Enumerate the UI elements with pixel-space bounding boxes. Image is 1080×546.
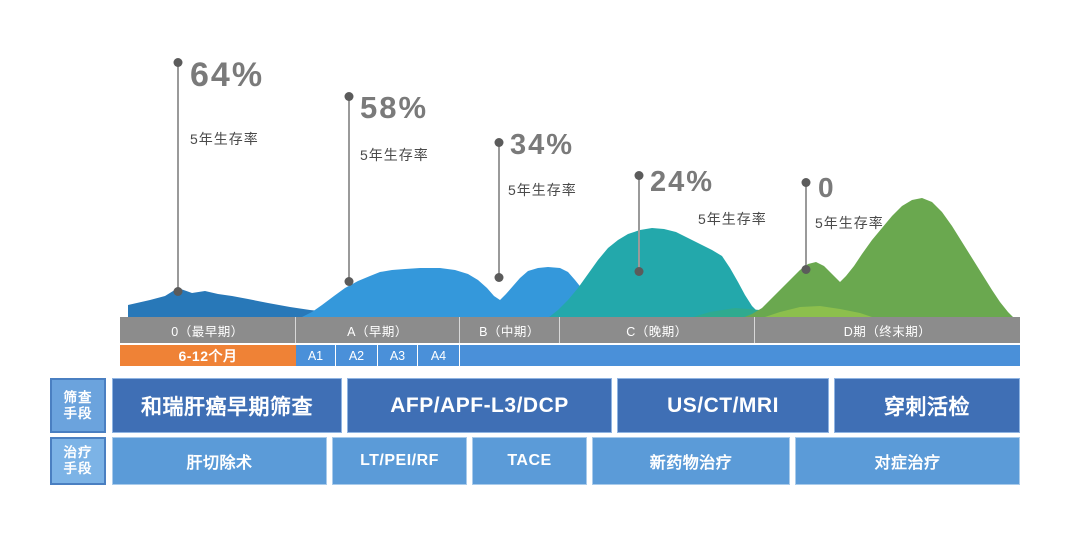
screening-cell-afp[interactable]: AFP/APF-L3/DCP	[347, 378, 612, 433]
stage-cell-d-label: D期（终末期）	[844, 321, 932, 340]
pin-line-58	[348, 96, 350, 282]
treatment-cell-resection[interactable]: 肝切除术	[112, 437, 327, 485]
survival-caption-0: 5年生存率	[815, 216, 884, 230]
stage-cell-c-label: C（晚期）	[626, 321, 688, 340]
substage-a4-label: A4	[431, 349, 446, 363]
survival-caption-64: 5年生存率	[190, 132, 259, 146]
treatment-cell-palliative-label: 对症治疗	[874, 449, 940, 473]
screening-cell-early-screening[interactable]: 和瑞肝癌早期筛查	[112, 378, 342, 433]
treatment-cell-new-drug[interactable]: 新药物治疗	[592, 437, 790, 485]
pin-dot-bottom-58	[345, 277, 354, 286]
screening-cell-imaging[interactable]: US/CT/MRI	[617, 378, 829, 433]
pin-dot-bottom-34	[495, 273, 504, 282]
pin-dot-top-64	[174, 58, 183, 67]
substage-a4[interactable]: A4	[418, 345, 460, 366]
screening-row-label-line1: 筛查	[64, 390, 93, 406]
screening-cell-afp-label: AFP/APF-L3/DCP	[390, 394, 569, 418]
screening-cells: 和瑞肝癌早期筛查 AFP/APF-L3/DCP US/CT/MRI 穿刺活检	[112, 378, 1020, 433]
stage-cell-a-label: A（早期）	[347, 321, 408, 340]
treatment-cells: 肝切除术 LT/PEI/RF TACE 新药物治疗 对症治疗	[112, 437, 1020, 485]
stage-cell-0-label: 0（最早期）	[171, 321, 243, 340]
survival-caption-24: 5年生存率	[698, 212, 767, 226]
pin-dot-bottom-24	[635, 267, 644, 276]
treatment-cell-new-drug-label: 新药物治疗	[650, 449, 733, 473]
pin-line-64	[177, 62, 179, 292]
treatment-cell-lt-pei-rf[interactable]: LT/PEI/RF	[332, 437, 467, 485]
treatment-row-label-line1: 治疗	[64, 445, 93, 461]
duration-badge-label: 6-12个月	[178, 346, 237, 366]
screening-cell-biopsy-label: 穿刺活检	[884, 391, 970, 421]
duration-badge: 6-12个月	[120, 345, 296, 366]
substage-row: 6-12个月 A1 A2 A3 A4	[120, 345, 1020, 366]
substage-a1[interactable]: A1	[296, 345, 336, 366]
area-stage-c	[548, 228, 768, 318]
pin-dot-top-58	[345, 92, 354, 101]
stage-cell-c[interactable]: C（晚期）	[560, 317, 755, 343]
treatment-cell-tace-label: TACE	[507, 452, 551, 470]
substage-a2-label: A2	[349, 349, 364, 363]
treatment-row-label: 治疗 手段	[50, 437, 106, 485]
pin-dot-bottom-0	[802, 265, 811, 274]
pin-dot-top-34	[495, 138, 504, 147]
pin-dot-top-24	[635, 171, 644, 180]
pct-label-34: 34%	[510, 131, 574, 160]
infographic-root: 64% 5年生存率 58% 5年生存率 34% 5年生存率 24% 5年生存率 …	[0, 0, 1080, 546]
treatment-cell-tace[interactable]: TACE	[472, 437, 587, 485]
screening-row-label: 筛查 手段	[50, 378, 106, 433]
substage-a2[interactable]: A2	[336, 345, 378, 366]
pct-label-64: 64%	[190, 58, 264, 92]
pin-line-0	[805, 182, 807, 270]
stage-cell-a[interactable]: A（早期）	[296, 317, 460, 343]
screening-cell-early-screening-label: 和瑞肝癌早期筛查	[141, 391, 313, 421]
pin-dot-bottom-64	[174, 287, 183, 296]
treatment-row-label-line2: 手段	[64, 461, 93, 477]
screening-row: 筛查 手段 和瑞肝癌早期筛查 AFP/APF-L3/DCP US/CT/MRI …	[50, 378, 1020, 433]
treatment-cell-lt-pei-rf-label: LT/PEI/RF	[360, 452, 439, 470]
treatment-cell-resection-label: 肝切除术	[186, 449, 252, 473]
screening-row-label-line2: 手段	[64, 406, 93, 422]
survival-caption-58: 5年生存率	[360, 148, 429, 162]
survival-caption-34: 5年生存率	[508, 183, 577, 197]
pin-line-24	[638, 175, 640, 272]
substage-filler	[460, 345, 1020, 366]
substage-a1-label: A1	[308, 349, 323, 363]
pct-label-0: 0	[818, 174, 836, 202]
stage-cell-b[interactable]: B（中期）	[460, 317, 560, 343]
pct-label-58: 58%	[360, 92, 428, 123]
pct-label-24: 24%	[650, 168, 714, 197]
stage-cell-d[interactable]: D期（终末期）	[755, 317, 1020, 343]
treatment-row: 治疗 手段 肝切除术 LT/PEI/RF TACE 新药物治疗 对症治疗	[50, 437, 1020, 485]
stage-cell-0[interactable]: 0（最早期）	[120, 317, 296, 343]
area-stage-a-b	[300, 267, 600, 318]
stage-bar: 0（最早期） A（早期） B（中期） C（晚期） D期（终末期）	[120, 317, 1020, 343]
screening-cell-biopsy[interactable]: 穿刺活检	[834, 378, 1020, 433]
substage-a3-label: A3	[390, 349, 405, 363]
pin-dot-top-0	[802, 178, 811, 187]
substage-a3[interactable]: A3	[378, 345, 418, 366]
pin-line-34	[498, 142, 500, 278]
treatment-cell-palliative[interactable]: 对症治疗	[795, 437, 1020, 485]
stage-cell-b-label: B（中期）	[479, 321, 540, 340]
screening-cell-imaging-label: US/CT/MRI	[667, 394, 779, 418]
